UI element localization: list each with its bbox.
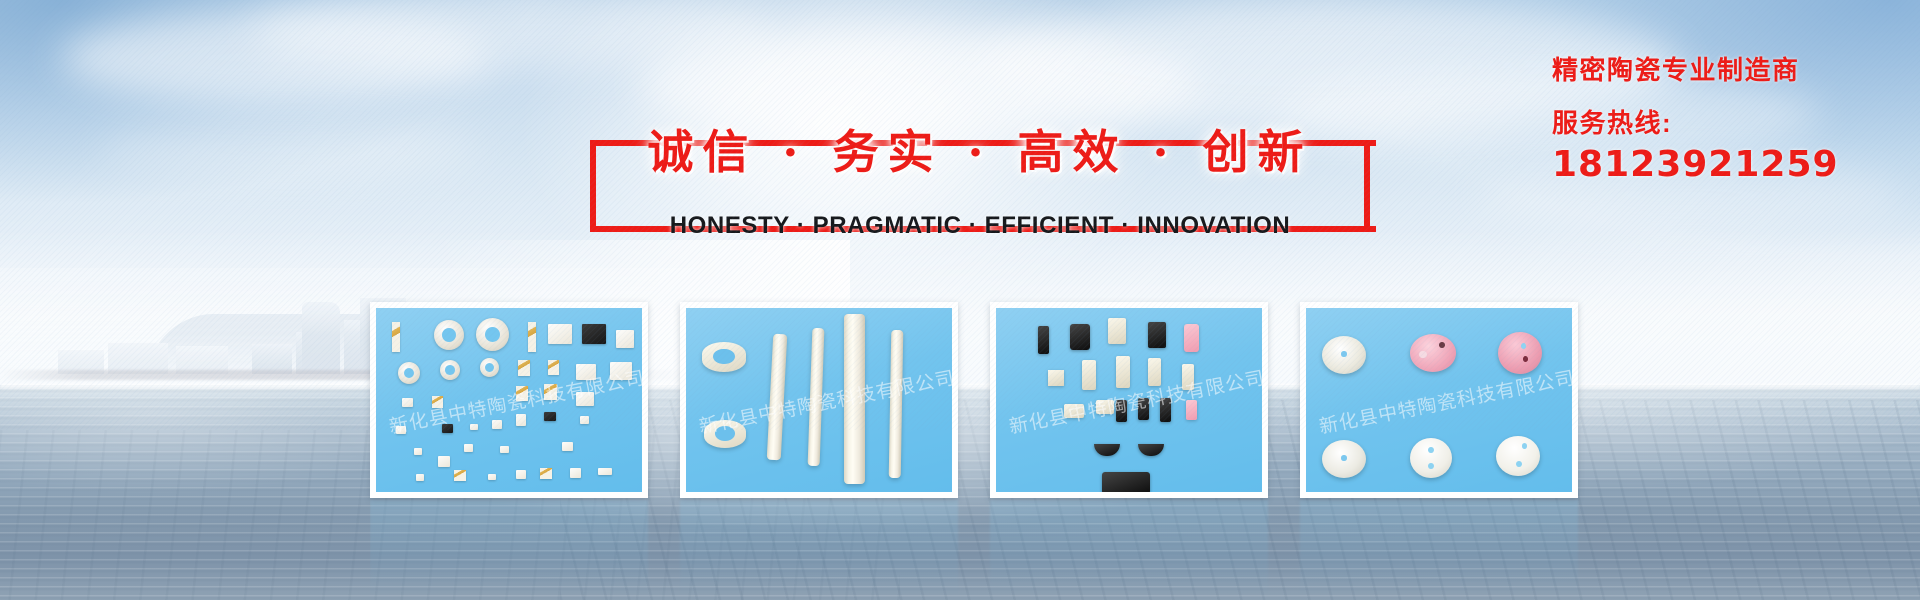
product-disc — [1496, 436, 1540, 476]
product-part — [516, 470, 526, 479]
product-part — [540, 468, 552, 479]
product-part — [500, 446, 509, 453]
diagonal-texture-overlay — [0, 0, 1920, 430]
product-part — [454, 470, 466, 481]
product-part — [1102, 472, 1150, 492]
product-part — [416, 474, 424, 481]
product-part — [464, 444, 473, 452]
product-part — [1094, 444, 1120, 456]
product-disc — [1322, 440, 1366, 478]
product-disc — [1410, 438, 1452, 478]
product-part — [1138, 444, 1164, 456]
product-part — [562, 442, 573, 451]
product-part — [570, 468, 581, 478]
product-part — [488, 474, 496, 480]
product-part — [414, 448, 422, 455]
product-part — [598, 468, 612, 475]
banner-stage: 诚信 · 务实 · 高效 · 创新 HONESTY · PRAGMATIC · … — [0, 0, 1920, 600]
product-part — [438, 456, 450, 467]
